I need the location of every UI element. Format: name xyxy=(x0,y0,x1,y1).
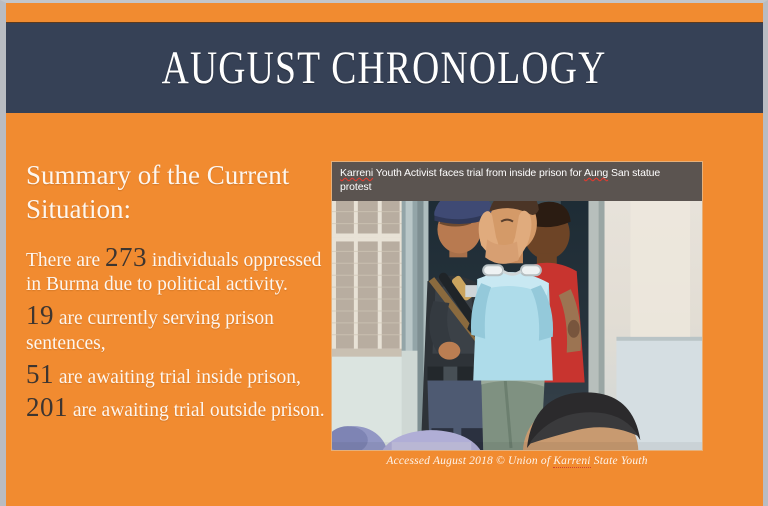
photo-caption-overlay: Karreni Youth Activist faces trial from … xyxy=(332,162,702,201)
photo-credit: Accessed August 2018 © Union of Karreni … xyxy=(331,455,703,467)
caption-text-part-1: Youth Activist faces trial from inside p… xyxy=(373,167,584,179)
stat-line-serving-sentences: 19 are currently serving prison sentence… xyxy=(26,302,326,357)
photo-credit-text: Accessed August 2018 © Union of xyxy=(386,455,553,467)
misspelled-word-karreni-credit: Karreni xyxy=(553,455,590,468)
stat-line-awaiting-trial-inside: 51 are awaiting trial inside prison, xyxy=(26,361,326,391)
stat-line-awaiting-trial-outside: 201 are awaiting trial outside prison. xyxy=(26,394,326,424)
misspelled-word-aung: Aung xyxy=(584,167,608,179)
slide-title-band: AUGUST CHRONOLOGY xyxy=(0,22,768,113)
photo-illustration xyxy=(332,162,702,450)
misspelled-word-karreni: Karreni xyxy=(340,167,373,179)
presentation-slide: AUGUST CHRONOLOGY Summary of the Current… xyxy=(0,0,768,506)
stat-suffix: are currently serving prison sentences, xyxy=(26,308,274,354)
photo-credit-text-end: State Youth xyxy=(591,455,648,467)
stat-number: 273 xyxy=(105,242,147,272)
summary-heading: Summary of the Current Situation: xyxy=(26,158,326,227)
stat-prefix: There are xyxy=(26,250,105,271)
stat-number: 201 xyxy=(26,392,68,422)
stat-number: 51 xyxy=(26,359,54,389)
stat-suffix: are awaiting trial inside prison, xyxy=(54,367,301,388)
stat-line-total: There are 273 individuals oppressed in B… xyxy=(26,244,326,299)
stat-number: 19 xyxy=(26,300,54,330)
summary-column: Summary of the Current Situation: There … xyxy=(26,158,326,428)
stat-suffix: are awaiting trial outside prison. xyxy=(68,400,325,421)
news-photo: Karreni Youth Activist faces trial from … xyxy=(331,161,703,451)
page-title: AUGUST CHRONOLOGY xyxy=(162,45,607,92)
